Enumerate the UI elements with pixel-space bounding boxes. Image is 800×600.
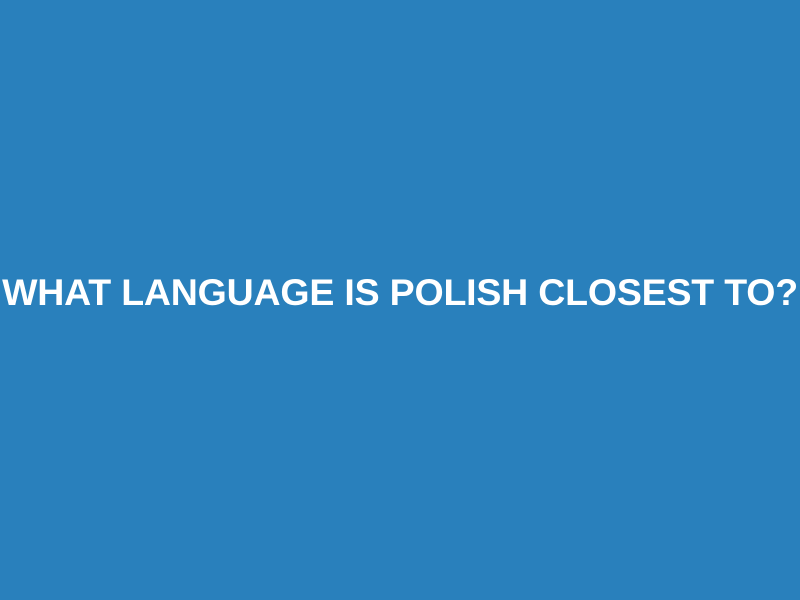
page-title: WHAT LANGUAGE IS POLISH CLOSEST TO? (2, 271, 798, 314)
featured-image-card: WHAT LANGUAGE IS POLISH CLOSEST TO? (0, 0, 800, 600)
headline-container: WHAT LANGUAGE IS POLISH CLOSEST TO? (0, 271, 800, 314)
